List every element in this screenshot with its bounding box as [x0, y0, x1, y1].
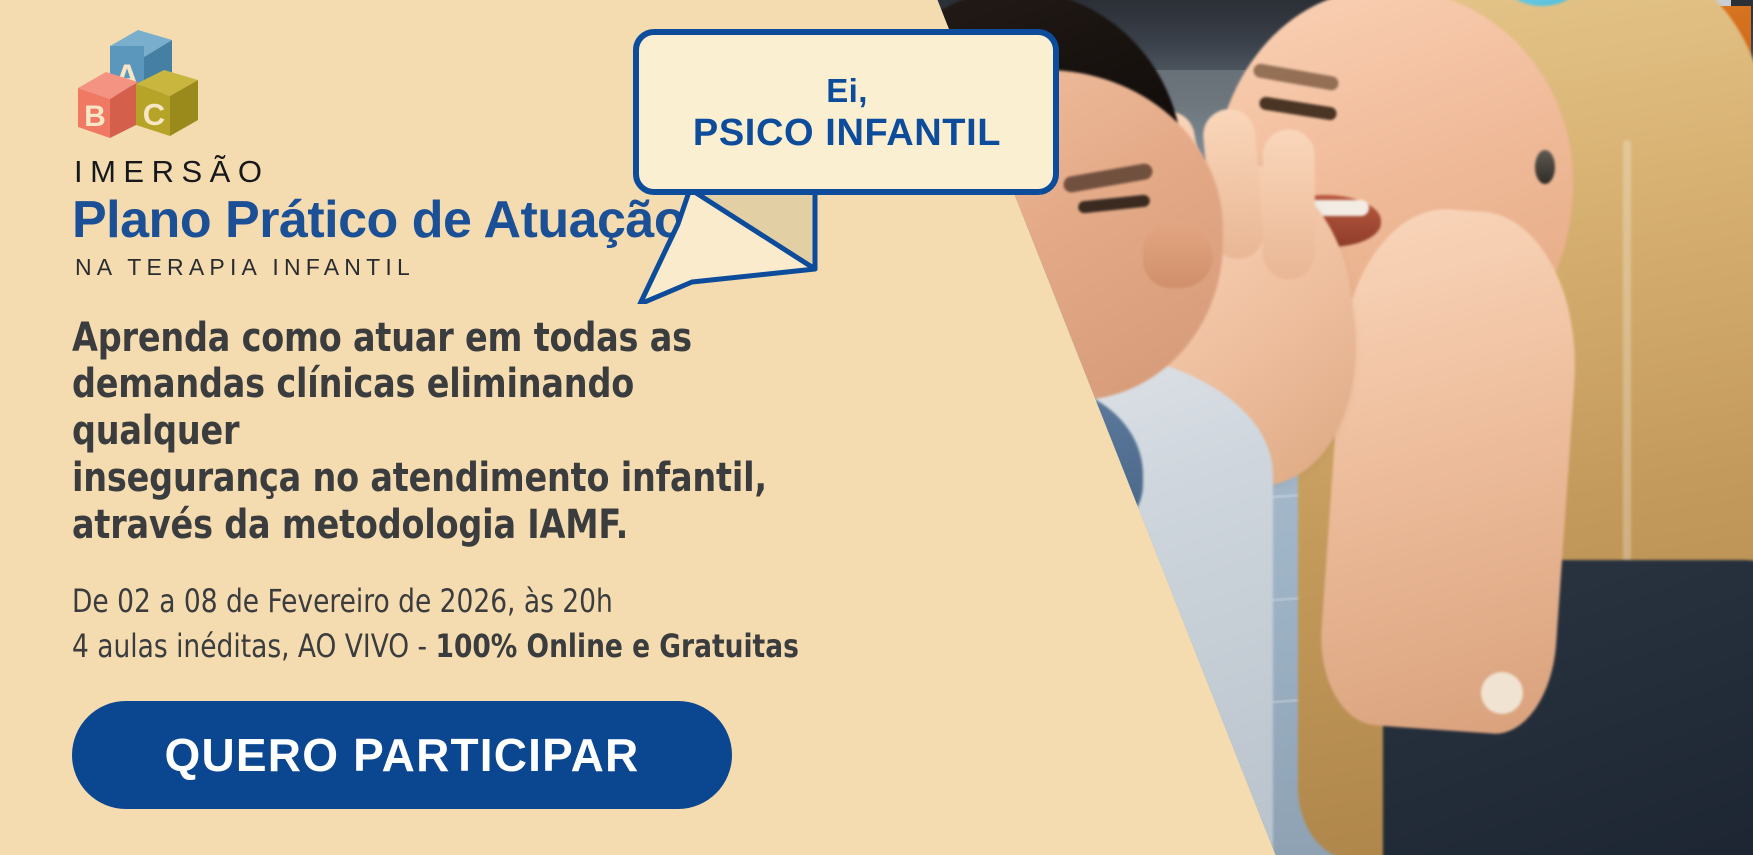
subkicker-terapia-infantil: NA TERAPIA INFANTIL: [75, 256, 960, 279]
girl-earring: [1535, 150, 1555, 184]
lead-paragraph: Aprenda como atuar em todas as demandas …: [72, 315, 779, 549]
event-format-highlight: 100% Online e Gratuitas: [436, 627, 799, 665]
lead-line-1: Aprenda como atuar em todas as: [72, 315, 779, 362]
logo-block-c: C: [136, 70, 198, 136]
lead-line-2: demandas clínicas eliminando qualquer: [72, 361, 779, 455]
speech-bubble-text[interactable]: Ei, PSICO INFANTIL: [652, 34, 1042, 194]
svg-text:C: C: [143, 97, 165, 132]
boy-button: [989, 510, 1007, 528]
boy-placket: [1018, 460, 1054, 670]
page-title: Plano Prático de Atuação: [72, 194, 960, 248]
lead-line-4: através da metodologia IAMF.: [72, 502, 779, 549]
quero-participar-button[interactable]: QUERO PARTICIPAR: [72, 701, 732, 809]
logo-block-b: B: [78, 72, 138, 138]
lead-line-3: insegurança no atendimento infantil,: [72, 455, 779, 502]
boy-nose: [1143, 222, 1213, 288]
abc-blocks-logo: A B C: [72, 26, 204, 138]
event-dates: De 02 a 08 de Fevereiro de 2026, às 20h: [72, 579, 882, 624]
girl-shirt-flower: [1481, 672, 1523, 714]
svg-text:B: B: [84, 100, 106, 133]
bubble-line-2: PSICO INFANTIL: [693, 113, 1001, 155]
event-details: De 02 a 08 de Fevereiro de 2026, às 20h …: [72, 579, 882, 670]
bubble-line-1: Ei,: [826, 73, 868, 109]
promo-banner: A B C IMERSÃO Plano Prático de: [0, 0, 1753, 855]
event-format: 4 aulas inéditas, AO VIVO - 100% Online …: [72, 624, 882, 669]
event-format-prefix: 4 aulas inéditas, AO VIVO -: [72, 627, 436, 665]
